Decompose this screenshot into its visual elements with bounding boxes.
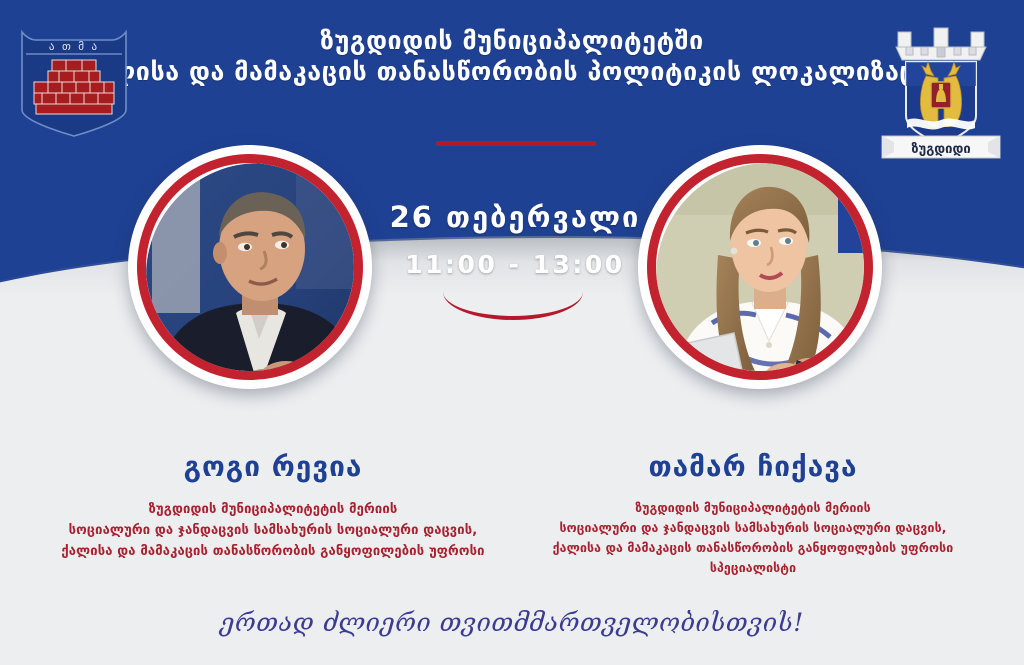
speaker-name-left: გოგი რევია (38, 450, 508, 483)
portrait-red-ring-right (647, 154, 873, 380)
speaker-block-right: თამარ ჩიქავა ზუგდიდის მუნიციპალიტეტის მე… (518, 450, 988, 579)
header-title-line-1: ზუგდიდის მუნიციპალიტეტში (0, 26, 1024, 57)
banner-slogan: ერთად ძლიერი თვითმმართველობისთვის! (0, 608, 1024, 637)
banner-header: ზუგდიდის მუნიციპალიტეტში ქალისა და მამაკ… (0, 26, 1024, 87)
portrait-red-ring-left (137, 154, 363, 380)
zugdidi-crest-banner-text: ზუგდიდი (911, 142, 970, 157)
atma-shield-crest-icon: ა თ მ ა (14, 18, 134, 138)
speaker-title-left-line-1: ზუგდიდის მუნიციპალიტეტის მერიის (38, 499, 508, 520)
event-datetime-block: 26 თებერვალი 11:00 - 13:00 (387, 200, 643, 279)
speaker-photo-frame-right (638, 145, 882, 389)
speaker-title-right-line-2: სოციალური და ჯანდაცვის სამსახურის სოციალ… (518, 519, 988, 539)
event-banner: ა თ მ ა (0, 0, 1024, 665)
header-accent-divider (436, 141, 596, 146)
speaker-title-right-line-1: ზუგდიდის მუნიციპალიტეტის მერიის (518, 499, 988, 519)
speaker-name-right: თამარ ჩიქავა (518, 450, 988, 483)
event-time: 11:00 - 13:00 (387, 250, 643, 279)
speaker-block-left: გოგი რევია ზუგდიდის მუნიციპალიტეტის მერი… (38, 450, 508, 562)
header-title-line-2: ქალისა და მამაკაცის თანასწორობის პოლიტიკ… (0, 57, 1024, 88)
speaker-photo-right (656, 163, 864, 371)
speaker-photo-left (146, 163, 354, 371)
event-date: 26 თებერვალი (387, 200, 643, 234)
speaker-title-right-line-3: ქალისა და მამაკაცის თანასწორობის განყოფი… (518, 539, 988, 579)
atma-crest-motto: ა თ მ ა (49, 40, 99, 53)
speaker-title-left-line-2: სოციალური და ჯანდაცვის სამსახურის სოციალ… (38, 520, 508, 541)
speaker-photo-frame-left (128, 145, 372, 389)
speaker-title-left-line-3: ქალისა და მამაკაცის თანასწორობის განყოფი… (38, 541, 508, 562)
zugdidi-coat-of-arms-icon: ზუგდიდი (876, 16, 1006, 160)
